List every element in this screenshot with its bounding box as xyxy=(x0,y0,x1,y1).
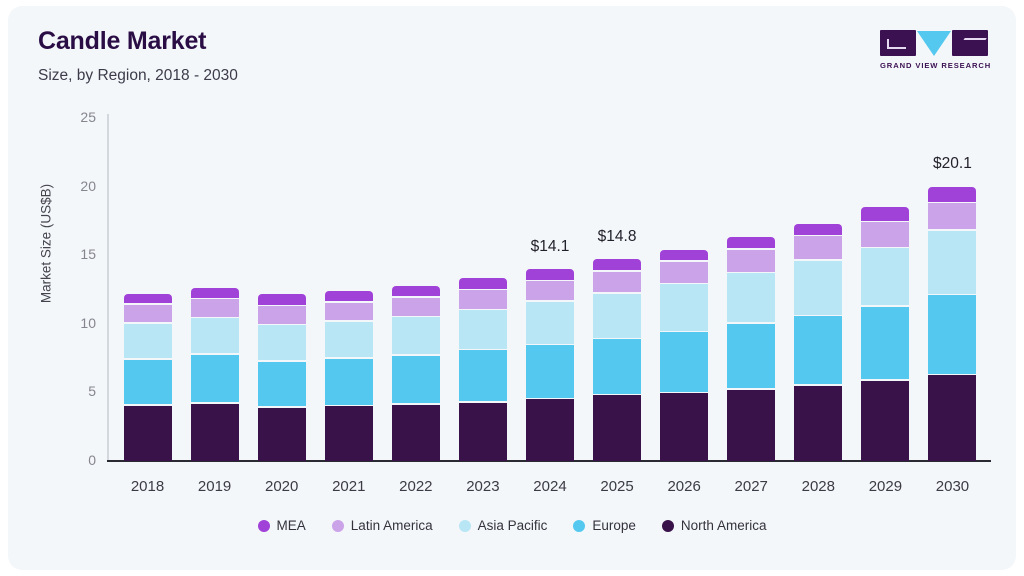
bar-segment[interactable] xyxy=(191,299,239,317)
bar-segment[interactable] xyxy=(861,207,909,221)
bar-segment[interactable] xyxy=(727,324,775,388)
legend-label: Asia Pacific xyxy=(478,518,548,533)
bar-stack[interactable] xyxy=(727,118,775,461)
bar-segment[interactable] xyxy=(392,405,440,461)
x-axis-tick-label: 2025 xyxy=(584,478,651,495)
bar-segment[interactable] xyxy=(124,294,172,303)
y-axis-tick-labels: 0510152025 xyxy=(52,6,96,570)
bar-segment[interactable] xyxy=(727,250,775,272)
bar-segment[interactable] xyxy=(191,355,239,402)
bar-segment[interactable] xyxy=(191,288,239,298)
bar-value-label: $14.8 xyxy=(598,228,637,246)
legend-swatch-icon xyxy=(332,520,344,532)
y-axis-tick-label: 5 xyxy=(56,383,96,399)
x-axis-tick-label: 2021 xyxy=(315,478,382,495)
bar-stack[interactable]: $14.1 xyxy=(526,118,574,461)
legend-item[interactable]: Asia Pacific xyxy=(459,518,548,533)
chart-card: Candle Market Size, by Region, 2018 - 20… xyxy=(8,6,1016,570)
bar-stack[interactable] xyxy=(794,118,842,461)
bar-segment[interactable] xyxy=(124,360,172,404)
legend-swatch-icon xyxy=(258,520,270,532)
x-axis-tick-label: 2030 xyxy=(919,478,986,495)
bar-segment[interactable] xyxy=(526,302,574,344)
bar-segment[interactable] xyxy=(258,325,306,360)
bar-segment[interactable] xyxy=(593,339,641,394)
bar-segment[interactable] xyxy=(928,203,976,229)
bar-segment[interactable] xyxy=(526,269,574,280)
bar-segment[interactable] xyxy=(593,294,641,338)
bar-segment[interactable] xyxy=(526,345,574,398)
legend-swatch-icon xyxy=(662,520,674,532)
x-axis-tick-label: 2023 xyxy=(449,478,516,495)
bar-segment[interactable] xyxy=(928,231,976,294)
bar-segment[interactable] xyxy=(459,310,507,348)
bar-segment[interactable] xyxy=(325,406,373,461)
bar-value-label: $20.1 xyxy=(933,155,972,173)
bar-segment[interactable] xyxy=(191,404,239,461)
bar-segment[interactable] xyxy=(392,356,440,404)
legend-label: Latin America xyxy=(351,518,433,533)
bar-stack[interactable] xyxy=(325,118,373,461)
bar-segment[interactable] xyxy=(928,295,976,374)
bar-stack[interactable] xyxy=(258,118,306,461)
legend-item[interactable]: Latin America xyxy=(332,518,433,533)
legend-item[interactable]: Europe xyxy=(573,518,636,533)
bar-segment[interactable] xyxy=(593,259,641,270)
bar-segment[interactable] xyxy=(861,222,909,247)
legend-label: Europe xyxy=(592,518,636,533)
legend-label: MEA xyxy=(277,518,306,533)
x-axis-tick-label: 2027 xyxy=(718,478,785,495)
legend-item[interactable]: North America xyxy=(662,518,767,533)
x-axis-tick-label: 2024 xyxy=(516,478,583,495)
bar-stack[interactable]: $14.8 xyxy=(593,118,641,461)
y-axis-line xyxy=(107,114,109,461)
y-axis-tick-label: 20 xyxy=(56,178,96,194)
bar-segment[interactable] xyxy=(593,395,641,461)
x-axis-tick-label: 2029 xyxy=(852,478,919,495)
legend-swatch-icon xyxy=(459,520,471,532)
bar-segment[interactable] xyxy=(727,390,775,461)
bar-segment[interactable] xyxy=(124,305,172,323)
bar-stack[interactable] xyxy=(191,118,239,461)
bar-segment[interactable] xyxy=(794,236,842,259)
bar-segment[interactable] xyxy=(660,262,708,283)
bar-segment[interactable] xyxy=(861,381,909,461)
bar-segment[interactable] xyxy=(660,393,708,461)
bar-segment[interactable] xyxy=(727,273,775,322)
bar-segment[interactable] xyxy=(459,278,507,289)
bar-segment[interactable] xyxy=(258,294,306,304)
bar-segment[interactable] xyxy=(258,408,306,461)
x-axis-tick-label: 2026 xyxy=(651,478,718,495)
bar-segment[interactable] xyxy=(325,322,373,358)
legend-swatch-icon xyxy=(573,520,585,532)
bar-stack[interactable] xyxy=(660,118,708,461)
bar-segment[interactable] xyxy=(459,290,507,308)
bar-segment[interactable] xyxy=(727,237,775,249)
bar-segment[interactable] xyxy=(794,386,842,461)
bar-segment[interactable] xyxy=(392,298,440,316)
bar-stack[interactable] xyxy=(124,118,172,461)
legend-item[interactable]: MEA xyxy=(258,518,306,533)
bar-segment[interactable] xyxy=(258,362,306,406)
y-axis-tick-label: 10 xyxy=(56,315,96,331)
bar-segment[interactable] xyxy=(325,359,373,405)
bar-segment[interactable] xyxy=(258,306,306,324)
bar-segment[interactable] xyxy=(325,303,373,321)
chart-plot-area: Market Size (US$B) 0510152025 $14.1$14.8… xyxy=(8,6,1016,570)
bar-segment[interactable] xyxy=(928,187,976,202)
bar-segment[interactable] xyxy=(794,224,842,235)
legend-label: North America xyxy=(681,518,767,533)
bar-segment[interactable] xyxy=(526,281,574,300)
bar-segment[interactable] xyxy=(526,399,574,461)
bar-value-label: $14.1 xyxy=(531,238,570,256)
x-axis-tick-label: 2028 xyxy=(785,478,852,495)
bar-stack[interactable]: $20.1 xyxy=(928,118,976,461)
bar-segment[interactable] xyxy=(459,350,507,401)
bar-segment[interactable] xyxy=(794,316,842,384)
bar-segment[interactable] xyxy=(392,317,440,354)
bar-segment[interactable] xyxy=(392,286,440,296)
bar-segment[interactable] xyxy=(124,324,172,358)
chart-legend: MEALatin AmericaAsia PacificEuropeNorth … xyxy=(8,518,1016,533)
y-axis-tick-label: 25 xyxy=(56,109,96,125)
bar-segment[interactable] xyxy=(794,261,842,315)
bar-segment[interactable] xyxy=(928,375,976,461)
bar-stack[interactable] xyxy=(392,118,440,461)
y-axis-tick-label: 0 xyxy=(56,452,96,468)
bar-segment[interactable] xyxy=(660,250,708,260)
bar-segment[interactable] xyxy=(459,403,507,461)
bar-stack[interactable] xyxy=(459,118,507,461)
x-axis-tick-label: 2020 xyxy=(248,478,315,495)
bar-segment[interactable] xyxy=(861,307,909,380)
bar-segment[interactable] xyxy=(325,291,373,301)
x-axis-tick-label: 2018 xyxy=(114,478,181,495)
y-axis-tick-label: 15 xyxy=(56,246,96,262)
bar-segment[interactable] xyxy=(593,272,641,292)
bar-stack[interactable] xyxy=(861,118,909,461)
bar-segment[interactable] xyxy=(191,318,239,353)
x-axis-tick-label: 2022 xyxy=(382,478,449,495)
bar-segment[interactable] xyxy=(660,284,708,331)
bar-segment[interactable] xyxy=(124,406,172,461)
bar-segment[interactable] xyxy=(660,332,708,392)
x-axis-tick-label: 2019 xyxy=(181,478,248,495)
bar-segment[interactable] xyxy=(861,248,909,305)
